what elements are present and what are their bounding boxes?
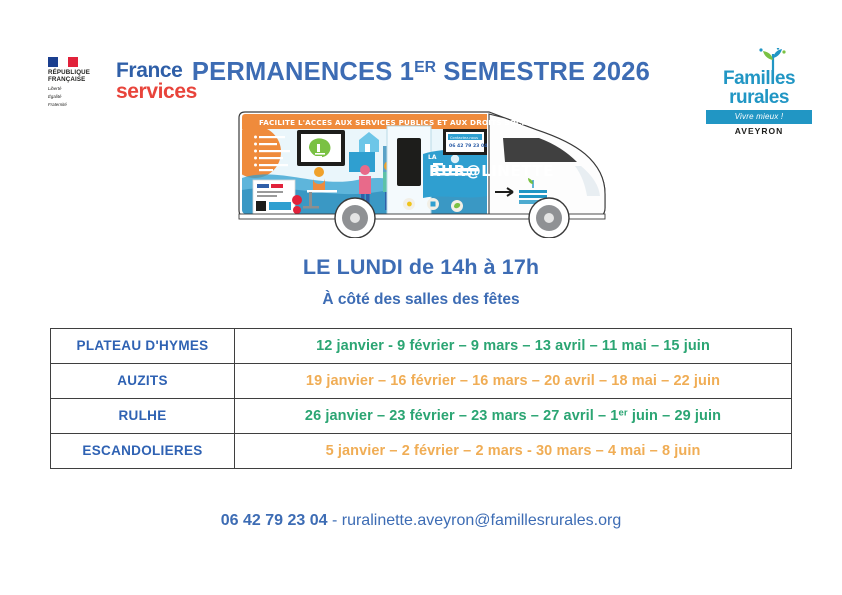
dates-list: 12 janvier - 9 février – 9 mars – 13 avr… <box>316 338 710 354</box>
page-title-main: PERMANENCES 1 <box>192 58 414 86</box>
dates-list: 19 janvier – 16 février – 16 mars – 20 a… <box>306 373 720 389</box>
dates-list: 5 janvier – 2 février – 2 mars - 30 mars… <box>326 443 701 459</box>
table-cell-town: ESCANDOLIERES <box>51 434 235 469</box>
opening-hours: de 14h à 17h <box>403 255 539 279</box>
ruralinette-van-image: FACILITE L'ACCES AUX SERVICES PUBLICS ET… <box>237 96 622 238</box>
table-cell-dates: 26 janvier – 23 février – 23 mars – 27 a… <box>235 399 792 434</box>
contact-phone: 06 42 79 23 04 <box>221 512 328 529</box>
dates-ordinal: er <box>618 408 627 419</box>
town-name: AUZITS <box>117 373 168 388</box>
familles-rurales-department: AVEYRON <box>706 126 812 136</box>
table-row: AUZITS 19 janvier – 16 février – 16 mars… <box>51 364 792 399</box>
town-name: RULHE <box>119 408 167 423</box>
table-cell-town: PLATEAU D'HYMES <box>51 329 235 364</box>
svg-text:FACILITE L'ACCES AUX SERVICES: FACILITE L'ACCES AUX SERVICES PUBLICS ET… <box>259 118 548 127</box>
page-header: RÉPUBLIQUE FRANÇAISE Liberté Égalité Fra… <box>0 0 842 100</box>
opening-day-line: LE LUNDI de 14h à 17h <box>0 255 842 280</box>
table-row: PLATEAU D'HYMES 12 janvier - 9 février –… <box>51 329 792 364</box>
table-cell-dates: 5 janvier – 2 février – 2 mars - 30 mars… <box>235 434 792 469</box>
town-name: PLATEAU D'HYMES <box>77 338 209 353</box>
page-title-tail: SEMESTRE 2026 <box>436 58 650 86</box>
svg-text:LA: LA <box>428 154 437 161</box>
town-name: ESCANDOLIERES <box>82 443 202 458</box>
table-row: ESCANDOLIERES 5 janvier – 2 février – 2 … <box>51 434 792 469</box>
contact-footer: 06 42 79 23 04 - ruralinette.aveyron@fam… <box>0 512 842 530</box>
svg-text:RUR@LINETTE: RUR@LINETTE <box>429 162 554 180</box>
dates-list: 26 janvier – 23 février – 23 mars – 27 a… <box>305 408 721 424</box>
familles-rurales-line2: rurales <box>706 88 812 107</box>
permanences-table: PLATEAU D'HYMES 12 janvier - 9 février –… <box>50 328 792 469</box>
table-cell-town: AUZITS <box>51 364 235 399</box>
dates-part-1: 26 janvier – 23 février – 23 mars – 27 a… <box>305 408 619 424</box>
svg-text:Contactez-nous: Contactez-nous <box>450 136 478 140</box>
republique-motto-line2: Égalité <box>48 94 110 99</box>
contact-email[interactable]: ruralinette.aveyron@famillesrurales.org <box>342 512 621 529</box>
familles-rurales-line1: Familles <box>706 70 812 88</box>
page-title-ordinal: ER <box>414 59 436 76</box>
republique-motto-line3: Fraternité <box>48 102 110 107</box>
table-cell-town: RULHE <box>51 399 235 434</box>
svg-text:06 42 79 23 04: 06 42 79 23 04 <box>449 143 487 149</box>
meeting-location: À côté des salles des fêtes <box>0 291 842 309</box>
opening-day: LE LUNDI <box>303 255 403 279</box>
contact-separator: - <box>328 512 342 529</box>
table-row: RULHE 26 janvier – 23 février – 23 mars … <box>51 399 792 434</box>
dates-part-2: juin – 29 juin <box>628 408 721 424</box>
table-cell-dates: 19 janvier – 16 février – 16 mars – 20 a… <box>235 364 792 399</box>
familles-rurales-logo: Familles rurales Vivre mieux ! AVEYRON <box>706 48 812 136</box>
sprout-icon <box>706 48 812 70</box>
familles-rurales-tagline: Vivre mieux ! <box>706 110 812 124</box>
table-cell-dates: 12 janvier - 9 février – 9 mars – 13 avr… <box>235 329 792 364</box>
